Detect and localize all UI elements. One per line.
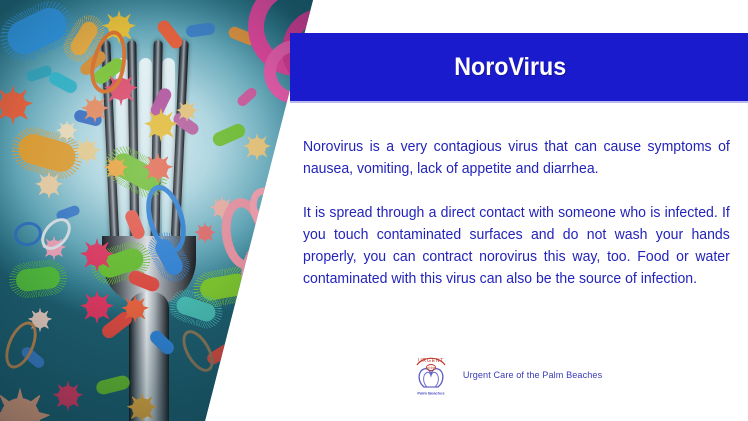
brand-logo: URGENT of the Palm Beaches Urgent Care o… bbox=[411, 353, 605, 397]
body-copy: Norovirus is a very contagious virus tha… bbox=[303, 136, 743, 290]
logo-of-the-text: of the bbox=[427, 366, 436, 370]
paragraph-1: Norovirus is a very contagious virus tha… bbox=[303, 136, 730, 180]
title-banner: NoroVirus bbox=[290, 33, 748, 103]
logo-urgent-text: URGENT bbox=[418, 358, 444, 364]
illustration-vignette bbox=[0, 0, 320, 421]
germ-illustration-panel bbox=[0, 0, 320, 421]
urgent-care-logo-icon: URGENT of the Palm Beaches bbox=[411, 353, 451, 397]
logo-palm-beaches-text: Palm Beaches bbox=[417, 391, 445, 396]
page-title: NoroVirus bbox=[454, 53, 566, 82]
slide-root: NoroVirus Norovirus is a very contagious… bbox=[0, 0, 748, 421]
paragraph-2: It is spread through a direct contact wi… bbox=[303, 202, 730, 290]
logo-wordmark: Urgent Care of the Palm Beaches bbox=[463, 370, 602, 381]
